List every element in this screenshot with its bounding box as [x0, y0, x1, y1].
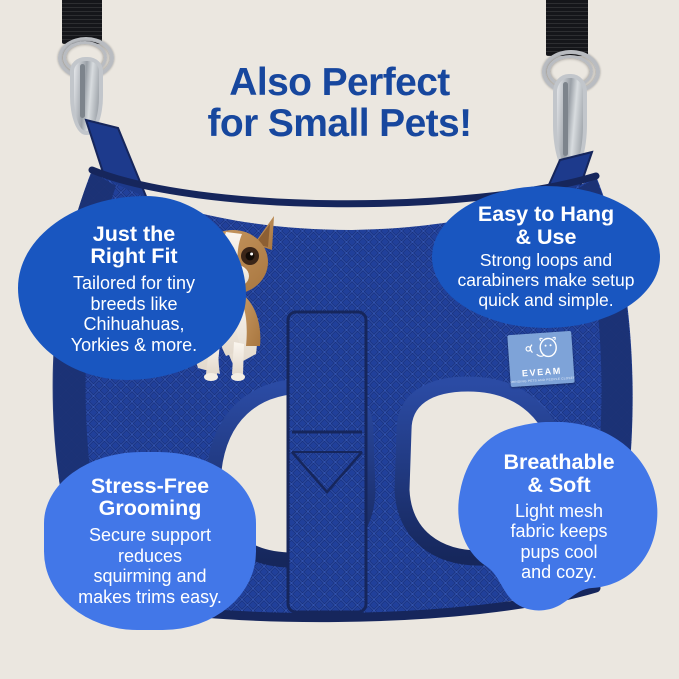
callout-body: Tailored for tiny breeds like Chihuahuas… [71, 273, 197, 355]
callout-body: Light mesh fabric keeps pups cool and co… [510, 501, 607, 583]
callout-body-line-4: Yorkies & more. [71, 335, 197, 355]
callout-body-line-2: carabiners make setup [457, 270, 634, 290]
callout-title-line-1: Easy to Hang [478, 202, 614, 226]
callout-body-line-2: fabric keeps [510, 521, 607, 541]
callout-body: Strong loops and carabiners make setup q… [457, 251, 634, 311]
callout-title-line-2: & Use [516, 225, 577, 249]
dog-logo-icon [507, 334, 573, 362]
callout-body-line-1: Light mesh [515, 501, 603, 521]
callout-body-line-1: Tailored for tiny [73, 273, 195, 293]
callout-title: Breathable & Soft [503, 451, 614, 497]
callout-title-line-1: Stress-Free [91, 474, 209, 498]
brand-label: EVEAM BRINGING PETS AND PEOPLE CLOSER [507, 331, 574, 387]
callout-body-line-4: and cozy. [521, 562, 597, 582]
callout-body-line-4: makes trims easy. [78, 587, 222, 607]
marketing-image: EVEAM BRINGING PETS AND PEOPLE CLOSER [0, 0, 679, 679]
callout-title-line-2: Grooming [99, 496, 202, 520]
callout-stress-free-grooming: Stress-Free Grooming Secure support redu… [44, 452, 256, 630]
callout-body-line-1: Strong loops and [480, 250, 612, 270]
callout-title: Stress-Free Grooming [91, 475, 209, 521]
callout-easy-to-hang-and-use: Easy to Hang & Use Strong loops and cara… [432, 186, 660, 328]
callout-body-line-3: squirming and [93, 566, 206, 586]
brand-tagline: BRINGING PETS AND PEOPLE CLOSER [509, 377, 574, 384]
callout-body-line-2: breeds like [90, 294, 177, 314]
callout-title-line-1: Breathable [503, 450, 614, 474]
callout-title-line-1: Just the [93, 222, 175, 246]
callout-breathable-and-soft: Breathable & Soft Light mesh fabric keep… [456, 422, 662, 612]
callout-title-line-2: & Soft [527, 473, 590, 497]
callout-title-line-2: Right Fit [90, 244, 177, 268]
callout-title: Easy to Hang & Use [478, 203, 614, 249]
callout-just-the-right-fit: Just the Right Fit Tailored for tiny bre… [18, 196, 246, 380]
callout-body: Secure support reduces squirming and mak… [78, 525, 222, 607]
callout-body-line-1: Secure support [89, 525, 211, 545]
callout-body-line-3: Chihuahuas, [83, 314, 184, 334]
callout-body-line-3: quick and simple. [478, 290, 613, 310]
callout-title: Just the Right Fit [90, 223, 177, 269]
callout-body-line-3: pups cool [520, 542, 597, 562]
callout-body-line-2: reduces [118, 546, 182, 566]
